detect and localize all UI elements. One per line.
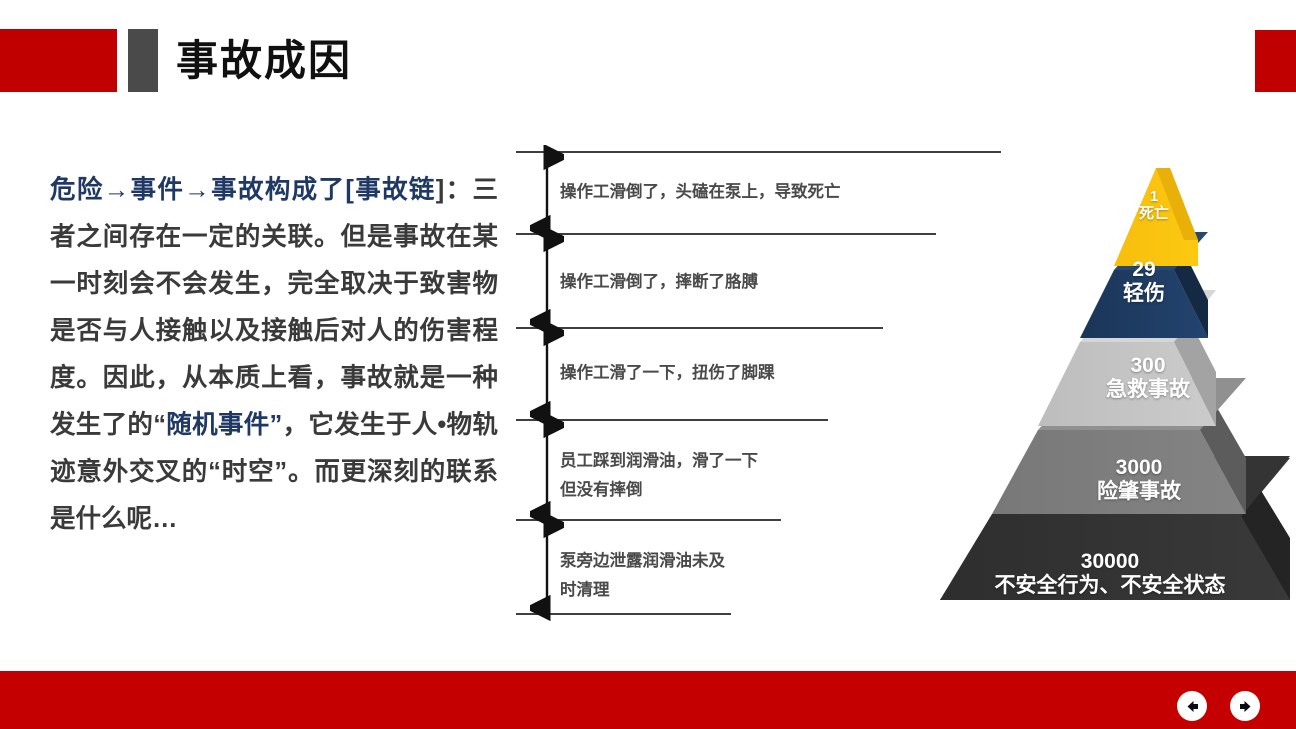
pyramid-level-3-text: 300 急救事故 <box>1068 354 1228 402</box>
pyramid-level-4-label: 险肇事故 <box>1049 480 1229 504</box>
pyramid-level-4-value: 3000 <box>1049 456 1229 480</box>
pyramid-level-1-label: 死亡 <box>1104 205 1204 222</box>
pyramid-level-2-text: 29 轻伤 <box>1084 258 1204 306</box>
arrow-left-icon <box>1184 698 1201 715</box>
measurement-arrows <box>530 145 564 625</box>
footer-bar <box>0 671 1296 729</box>
pyramid-level-2-label: 轻伤 <box>1084 282 1204 306</box>
pyramid-level-5-label: 不安全行为、不安全状态 <box>870 574 1296 598</box>
arrow-right-icon <box>1237 698 1254 715</box>
pyramid-level-5-value: 30000 <box>870 550 1296 574</box>
next-slide-button[interactable] <box>1230 691 1260 721</box>
pyramid-level-4-text: 3000 险肇事故 <box>1049 456 1229 504</box>
pyramid-level-1-text: 1 死亡 <box>1104 188 1204 223</box>
pyramid-level-3-value: 300 <box>1068 354 1228 378</box>
pyramid-level-3-label: 急救事故 <box>1068 378 1228 402</box>
pyramid-graphic: 1 死亡 29 轻伤 300 急救事故 3000 险肇事故 30000 不安全行… <box>700 140 1296 625</box>
prev-slide-button[interactable] <box>1177 691 1207 721</box>
pyramid-level-2-value: 29 <box>1084 258 1204 282</box>
pyramid-level-1-value: 1 <box>1104 188 1204 205</box>
pyramid-level-5-text: 30000 不安全行为、不安全状态 <box>870 550 1296 598</box>
